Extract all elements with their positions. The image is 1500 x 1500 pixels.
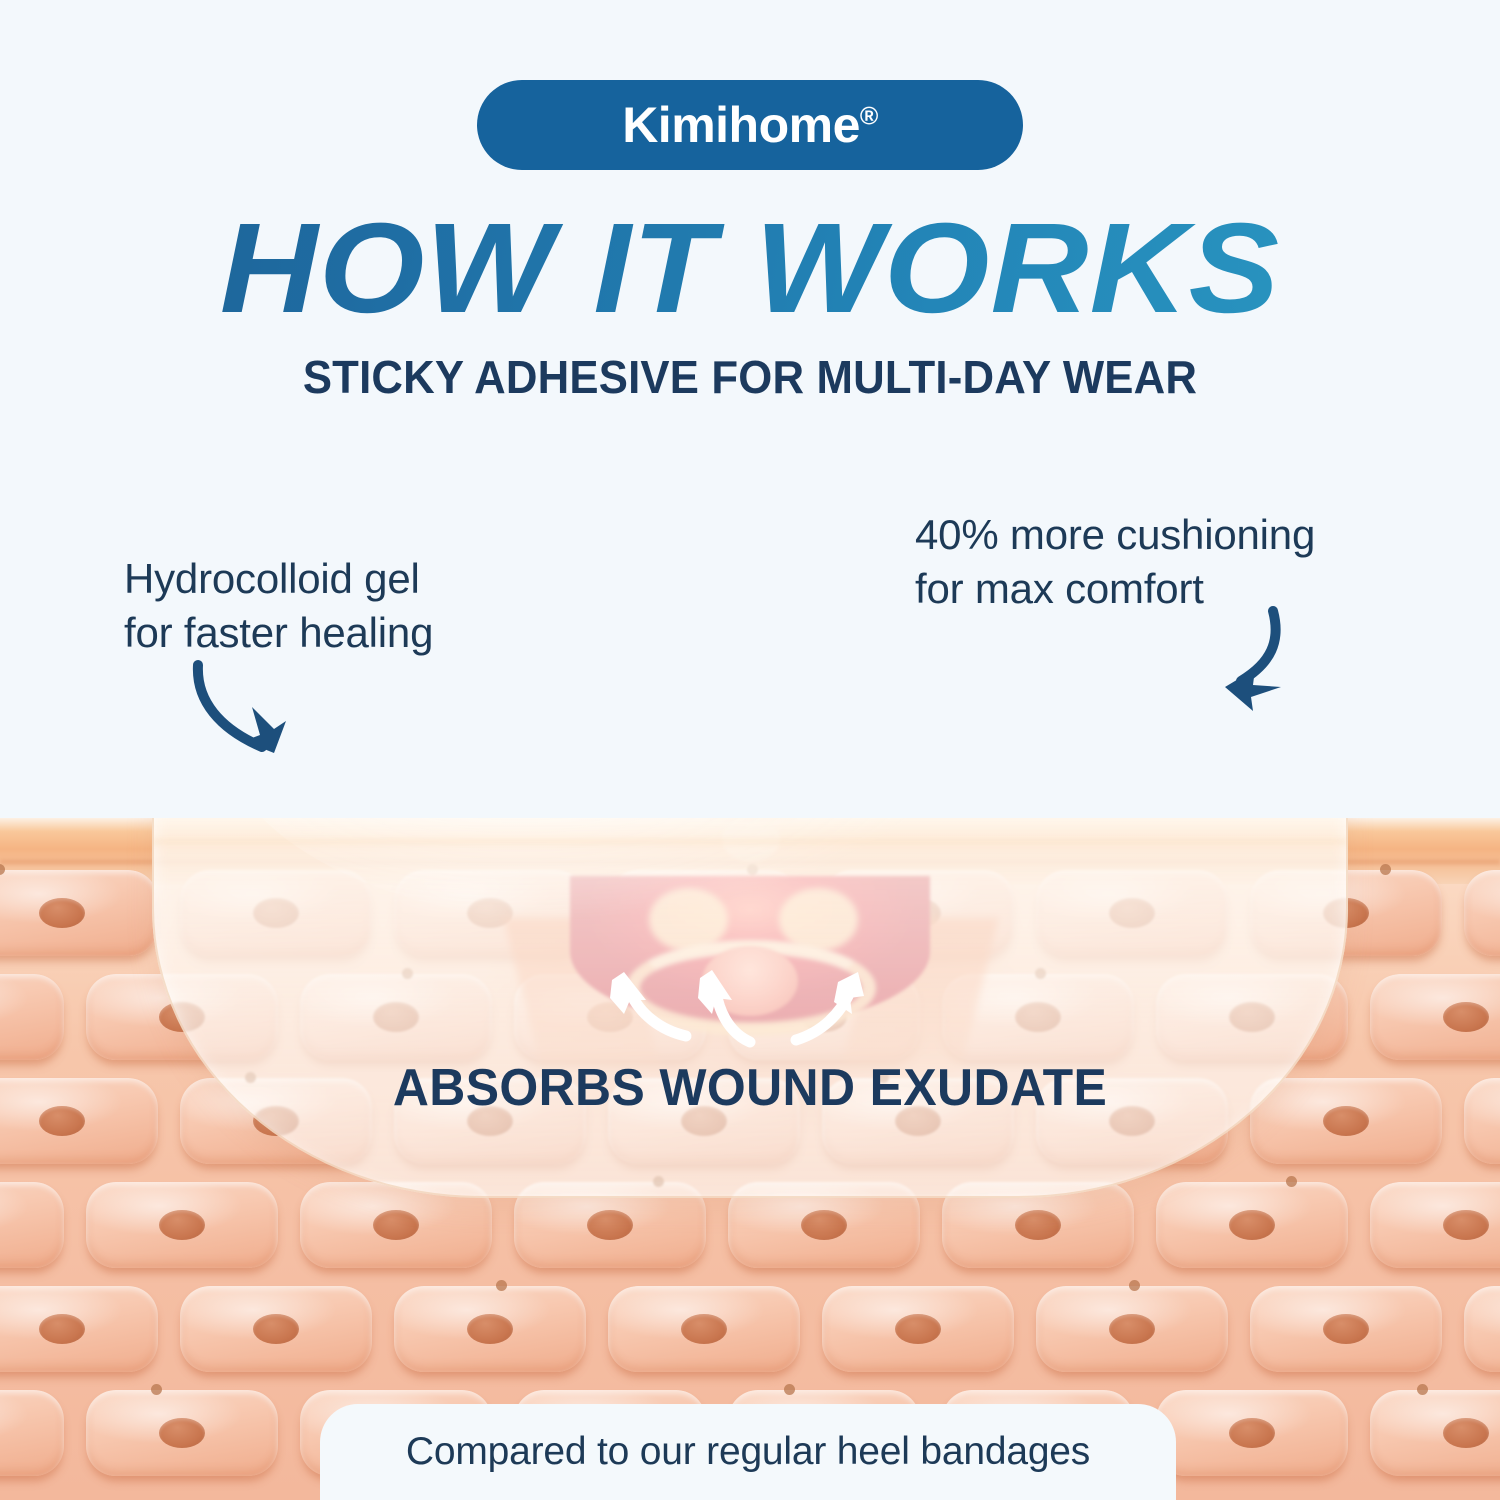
skin-cell (0, 974, 64, 1060)
skin-cell (1036, 1286, 1228, 1372)
cell-nucleus (159, 1210, 205, 1240)
cell-speck (784, 1384, 795, 1395)
cross-section-diagram: ABSORBS WOUND EXUDATE (0, 818, 1500, 1500)
curved-arrow-down-right-icon (190, 655, 320, 775)
brand-name-text: Kimihome (622, 97, 860, 153)
registered-trademark-icon: ® (860, 102, 878, 130)
cell-nucleus (681, 1314, 727, 1344)
skin-cell (1464, 870, 1500, 956)
skin-cell (822, 1286, 1014, 1372)
cell-nucleus (1443, 1418, 1489, 1448)
skin-cell (1370, 1390, 1500, 1476)
cell-speck (1380, 864, 1391, 875)
brand-name: Kimihome® (622, 100, 878, 150)
absorb-label: ABSORBS WOUND EXUDATE (30, 1058, 1470, 1118)
cell-speck (496, 1280, 507, 1291)
cell-speck (1286, 1176, 1297, 1187)
skin-cell (0, 870, 158, 956)
footnote-card: Compared to our regular heel bandages (320, 1404, 1176, 1500)
callout-left-line2: for faster healing (124, 606, 433, 660)
skin-cell (86, 1182, 278, 1268)
absorb-arrows-icon (600, 958, 900, 1048)
cell-nucleus (467, 1314, 513, 1344)
callout-left-line1: Hydrocolloid gel (124, 552, 433, 606)
skin-cell-row (0, 1286, 1500, 1372)
callout-cushioning: 40% more cushioning for max comfort (915, 508, 1315, 616)
skin-cell (180, 1286, 372, 1372)
cell-nucleus (1229, 1418, 1275, 1448)
skin-cell (608, 1286, 800, 1372)
cell-speck (1129, 1280, 1140, 1291)
skin-cell (0, 1182, 64, 1268)
skin-cell (1464, 1286, 1500, 1372)
cell-nucleus (1015, 1210, 1061, 1240)
cell-nucleus (1323, 1314, 1369, 1344)
cell-nucleus (39, 1314, 85, 1344)
callout-hydrocolloid-gel: Hydrocolloid gel for faster healing (124, 552, 433, 660)
skin-cell (86, 1390, 278, 1476)
cell-nucleus (1443, 1210, 1489, 1240)
brand-logo-badge: Kimihome® (477, 80, 1023, 170)
cell-nucleus (1443, 1002, 1489, 1032)
skin-cell (1250, 1286, 1442, 1372)
cell-nucleus (39, 898, 85, 928)
cell-nucleus (895, 1314, 941, 1344)
curved-arrow-down-left-icon (1195, 605, 1305, 715)
cell-nucleus (587, 1210, 633, 1240)
skin-cell (1156, 1390, 1348, 1476)
skin-cell (0, 1286, 158, 1372)
cell-speck (151, 1384, 162, 1395)
skin-cell (394, 1286, 586, 1372)
cell-nucleus (253, 1314, 299, 1344)
skin-cell (1370, 1182, 1500, 1268)
cell-nucleus (801, 1210, 847, 1240)
skin-cell (1370, 974, 1500, 1060)
bandage-gel-line-2 (152, 838, 1348, 845)
infographic-page: Kimihome® HOW IT WORKS STICKY ADHESIVE F… (0, 0, 1500, 1500)
skin-cell (0, 1390, 64, 1476)
bandage-sheen (224, 818, 966, 923)
cell-nucleus (1229, 1210, 1275, 1240)
page-subtitle: STICKY ADHESIVE FOR MULTI-DAY WEAR (38, 350, 1463, 404)
page-title: HOW IT WORKS (0, 205, 1500, 333)
cell-nucleus (159, 1418, 205, 1448)
cell-speck (1417, 1384, 1428, 1395)
cell-nucleus (1109, 1314, 1155, 1344)
cell-nucleus (373, 1210, 419, 1240)
footnote-text: Compared to our regular heel bandages (406, 1430, 1090, 1474)
callout-right-line1: 40% more cushioning (915, 508, 1315, 562)
skin-cell (1156, 1182, 1348, 1268)
